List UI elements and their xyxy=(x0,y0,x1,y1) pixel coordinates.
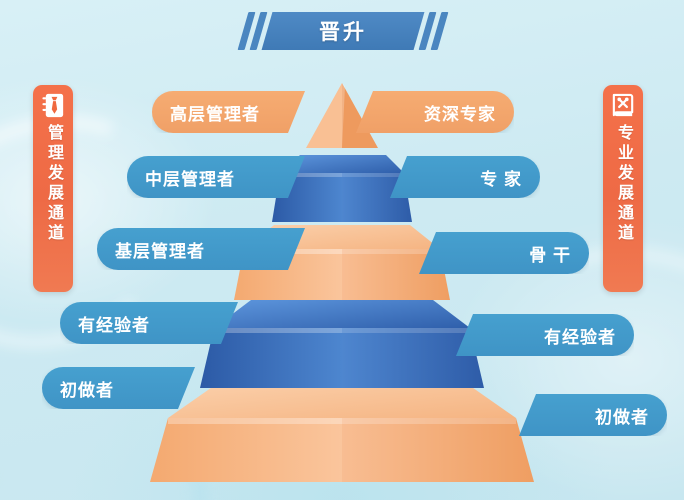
necktie-clipboard-icon xyxy=(40,92,67,119)
background-swirl xyxy=(0,417,215,500)
left-level-3[interactable]: 基层管理者 xyxy=(97,228,305,270)
right-level-5[interactable]: 资深专家 xyxy=(356,91,514,133)
left-level-4[interactable]: 中层管理者 xyxy=(127,156,305,198)
right-level-4[interactable]: 专 家 xyxy=(390,156,540,198)
title-banner: 晋升 xyxy=(243,12,443,50)
right-track-label: 专业发展通道 xyxy=(615,124,631,244)
right-level-1[interactable]: 初做者 xyxy=(519,394,667,436)
pyramid-tier-1 xyxy=(150,383,534,482)
page-title: 晋升 xyxy=(267,12,419,50)
book-tools-icon xyxy=(610,92,637,119)
right-track-banner[interactable]: 专业发展通道 xyxy=(603,85,643,292)
right-level-3[interactable]: 骨 干 xyxy=(419,232,589,274)
left-level-5[interactable]: 高层管理者 xyxy=(152,91,305,133)
right-level-2[interactable]: 有经验者 xyxy=(456,314,634,356)
career-ladder-infographic: 晋升 管理发展通道 专业发展通道 高层管理者 中层管理者 基层管理者 有经验者 … xyxy=(0,0,684,500)
left-level-2[interactable]: 有经验者 xyxy=(60,302,238,344)
pyramid-tier-2 xyxy=(200,300,484,388)
left-track-label: 管理发展通道 xyxy=(45,124,61,244)
left-level-1[interactable]: 初做者 xyxy=(42,367,195,409)
left-track-banner[interactable]: 管理发展通道 xyxy=(33,85,73,292)
